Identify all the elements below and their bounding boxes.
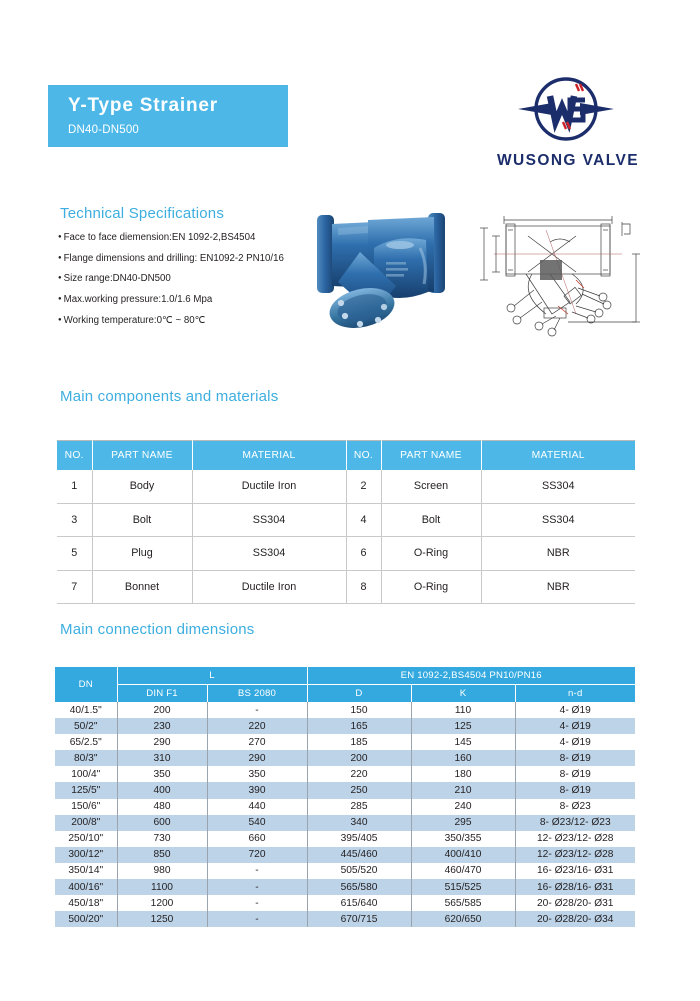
- wusong-circular-ws-logo-icon: [506, 72, 626, 150]
- table-row: 300/12" 850 720 445/460 400/410 12- Ø23/…: [55, 847, 635, 863]
- cell-dn: 150/6": [55, 799, 117, 815]
- y-strainer-cross-section-drawing: [472, 210, 650, 340]
- cell-material: SS304: [481, 503, 635, 537]
- page-subtitle: DN40-DN500: [68, 124, 288, 136]
- cell-dn: 300/12": [55, 847, 117, 863]
- col-group-en: EN 1092-2,BS4504 PN10/PN16: [307, 667, 635, 684]
- cell-d: 445/460: [307, 847, 411, 863]
- cell-material: SS304: [481, 470, 635, 504]
- cell-dn: 65/2.5": [55, 734, 117, 750]
- col-part-name-right: PART NAME: [381, 441, 481, 470]
- cell-bs: 440: [207, 799, 307, 815]
- cell-dn: 50/2": [55, 718, 117, 734]
- section-heading-technical: Technical Specifications: [60, 205, 224, 222]
- cell-k: 350/355: [411, 831, 515, 847]
- col-no-left: NO.: [57, 441, 92, 470]
- cell-din: 1200: [117, 895, 207, 911]
- cell-nd: 8- Ø19: [515, 750, 635, 766]
- cell-no: 4: [346, 503, 381, 537]
- col-group-l: L: [117, 667, 307, 684]
- materials-table: NO. PART NAME MATERIAL NO. PART NAME MAT…: [57, 440, 635, 604]
- table-row: 100/4" 350 350 220 180 8- Ø19: [55, 766, 635, 782]
- cell-dn: 40/1.5": [55, 702, 117, 718]
- col-dn: DN: [55, 667, 117, 702]
- cell-bs: 350: [207, 766, 307, 782]
- cell-no: 2: [346, 470, 381, 504]
- cell-k: 110: [411, 702, 515, 718]
- table-row: 80/3" 310 290 200 160 8- Ø19: [55, 750, 635, 766]
- cell-k: 145: [411, 734, 515, 750]
- cell-k: 240: [411, 799, 515, 815]
- cell-din: 730: [117, 831, 207, 847]
- cell-din: 200: [117, 702, 207, 718]
- cell-d: 565/580: [307, 879, 411, 895]
- table-header-row: NO. PART NAME MATERIAL NO. PART NAME MAT…: [57, 441, 635, 470]
- cell-din: 230: [117, 718, 207, 734]
- cell-nd: 8- Ø19: [515, 766, 635, 782]
- title-band: Y-Type Strainer DN40-DN500: [48, 85, 288, 147]
- cell-nd: 16- Ø28/16- Ø31: [515, 879, 635, 895]
- cell-dn: 80/3": [55, 750, 117, 766]
- brand-logo: WUSONG VALVE: [478, 72, 658, 184]
- page-title: Y-Type Strainer: [68, 96, 288, 117]
- cell-bs: -: [207, 911, 307, 927]
- cell-d: 340: [307, 815, 411, 831]
- cell-dn: 400/16": [55, 879, 117, 895]
- col-din-f1: DIN F1: [117, 684, 207, 702]
- cell-part-name: Bonnet: [92, 570, 192, 604]
- cell-k: 125: [411, 718, 515, 734]
- cell-k: 210: [411, 782, 515, 798]
- cell-bs: 660: [207, 831, 307, 847]
- col-part-name-left: PART NAME: [92, 441, 192, 470]
- table-row: 50/2" 230 220 165 125 4- Ø19: [55, 718, 635, 734]
- cell-dn: 450/18": [55, 895, 117, 911]
- cell-material: NBR: [481, 570, 635, 604]
- cell-no: 8: [346, 570, 381, 604]
- page-header: Y-Type Strainer DN40-DN500 WUSONG VALVE: [0, 0, 700, 195]
- table-row: 500/20" 1250 - 670/715 620/650 20- Ø28/2…: [55, 911, 635, 927]
- table-row: 65/2.5" 290 270 185 145 4- Ø19: [55, 734, 635, 750]
- cell-part-name: O-Ring: [381, 570, 481, 604]
- cell-d: 670/715: [307, 911, 411, 927]
- table-row: 450/18" 1200 - 615/640 565/585 20- Ø28/2…: [55, 895, 635, 911]
- cell-bs: -: [207, 879, 307, 895]
- col-material-left: MATERIAL: [192, 441, 346, 470]
- table-row: 250/10" 730 660 395/405 350/355 12- Ø23/…: [55, 831, 635, 847]
- cell-din: 480: [117, 799, 207, 815]
- cell-d: 165: [307, 718, 411, 734]
- cell-dn: 100/4": [55, 766, 117, 782]
- cell-d: 220: [307, 766, 411, 782]
- cell-no: 7: [57, 570, 92, 604]
- cell-din: 980: [117, 863, 207, 879]
- cell-d: 150: [307, 702, 411, 718]
- cell-k: 515/525: [411, 879, 515, 895]
- cell-k: 620/650: [411, 911, 515, 927]
- cell-nd: 20- Ø28/20- Ø34: [515, 911, 635, 927]
- col-d: D: [307, 684, 411, 702]
- cell-no: 5: [57, 537, 92, 571]
- cell-din: 1100: [117, 879, 207, 895]
- cell-dn: 200/8": [55, 815, 117, 831]
- cell-dn: 500/20": [55, 911, 117, 927]
- cell-dn: 125/5": [55, 782, 117, 798]
- cell-din: 600: [117, 815, 207, 831]
- cell-material: SS304: [192, 503, 346, 537]
- section-heading-dimensions: Main connection dimensions: [60, 621, 254, 638]
- table-row: 350/14" 980 - 505/520 460/470 16- Ø23/16…: [55, 863, 635, 879]
- col-n-d: n-d: [515, 684, 635, 702]
- col-material-right: MATERIAL: [481, 441, 635, 470]
- cell-d: 185: [307, 734, 411, 750]
- table-row: 7 Bonnet Ductile Iron 8 O-Ring NBR: [57, 570, 635, 604]
- cell-k: 460/470: [411, 863, 515, 879]
- cell-bs: 390: [207, 782, 307, 798]
- cell-part-name: Screen: [381, 470, 481, 504]
- cell-nd: 4- Ø19: [515, 718, 635, 734]
- cell-din: 310: [117, 750, 207, 766]
- cell-bs: 270: [207, 734, 307, 750]
- cell-bs: -: [207, 702, 307, 718]
- cell-din: 850: [117, 847, 207, 863]
- cell-din: 400: [117, 782, 207, 798]
- cell-bs: 720: [207, 847, 307, 863]
- cell-material: SS304: [192, 537, 346, 571]
- cell-d: 285: [307, 799, 411, 815]
- cell-bs: -: [207, 863, 307, 879]
- cell-material: Ductile Iron: [192, 570, 346, 604]
- cell-nd: 12- Ø23/12- Ø28: [515, 847, 635, 863]
- cell-d: 250: [307, 782, 411, 798]
- table-row: 3 Bolt SS304 4 Bolt SS304: [57, 503, 635, 537]
- table-row: 200/8" 600 540 340 295 8- Ø23/12- Ø23: [55, 815, 635, 831]
- table-row: 400/16" 1100 - 565/580 515/525 16- Ø28/1…: [55, 879, 635, 895]
- cell-no: 1: [57, 470, 92, 504]
- cell-din: 1250: [117, 911, 207, 927]
- cell-bs: 220: [207, 718, 307, 734]
- brand-name: WUSONG VALVE: [478, 152, 658, 170]
- cell-nd: 8- Ø19: [515, 782, 635, 798]
- cell-no: 6: [346, 537, 381, 571]
- cell-bs: 540: [207, 815, 307, 831]
- cell-dn: 250/10": [55, 831, 117, 847]
- table-header-row-group: DN L EN 1092-2,BS4504 PN10/PN16: [55, 667, 635, 684]
- cell-k: 400/410: [411, 847, 515, 863]
- cell-bs: 290: [207, 750, 307, 766]
- cell-nd: 20- Ø28/20- Ø31: [515, 895, 635, 911]
- cell-dn: 350/14": [55, 863, 117, 879]
- cell-k: 295: [411, 815, 515, 831]
- cell-d: 505/520: [307, 863, 411, 879]
- cell-part-name: Plug: [92, 537, 192, 571]
- cell-material: NBR: [481, 537, 635, 571]
- cell-d: 615/640: [307, 895, 411, 911]
- cell-nd: 8- Ø23: [515, 799, 635, 815]
- cell-k: 180: [411, 766, 515, 782]
- cell-k: 565/585: [411, 895, 515, 911]
- cell-din: 350: [117, 766, 207, 782]
- table-row: 125/5" 400 390 250 210 8- Ø19: [55, 782, 635, 798]
- cell-part-name: Body: [92, 470, 192, 504]
- cell-bs: -: [207, 895, 307, 911]
- col-k: K: [411, 684, 515, 702]
- col-no-right: NO.: [346, 441, 381, 470]
- table-row: 1 Body Ductile Iron 2 Screen SS304: [57, 470, 635, 504]
- section-heading-materials: Main components and materials: [60, 388, 278, 405]
- y-strainer-blue-valve-photo: [288, 208, 470, 350]
- table-row: 150/6" 480 440 285 240 8- Ø23: [55, 799, 635, 815]
- cell-part-name: Bolt: [381, 503, 481, 537]
- table-header-row-sub: DIN F1 BS 2080 D K n-d: [55, 684, 635, 702]
- cell-k: 160: [411, 750, 515, 766]
- cell-nd: 16- Ø23/16- Ø31: [515, 863, 635, 879]
- cell-d: 395/405: [307, 831, 411, 847]
- table-row: 5 Plug SS304 6 O-Ring NBR: [57, 537, 635, 571]
- cell-nd: 8- Ø23/12- Ø23: [515, 815, 635, 831]
- cell-d: 200: [307, 750, 411, 766]
- table-row: 40/1.5" 200 - 150 110 4- Ø19: [55, 702, 635, 718]
- cell-nd: 12- Ø23/12- Ø28: [515, 831, 635, 847]
- dimensions-table: DN L EN 1092-2,BS4504 PN10/PN16 DIN F1 B…: [55, 667, 635, 927]
- cell-nd: 4- Ø19: [515, 702, 635, 718]
- col-bs-2080: BS 2080: [207, 684, 307, 702]
- cell-material: Ductile Iron: [192, 470, 346, 504]
- cell-part-name: Bolt: [92, 503, 192, 537]
- cell-part-name: O-Ring: [381, 537, 481, 571]
- cell-no: 3: [57, 503, 92, 537]
- cell-nd: 4- Ø19: [515, 734, 635, 750]
- cell-din: 290: [117, 734, 207, 750]
